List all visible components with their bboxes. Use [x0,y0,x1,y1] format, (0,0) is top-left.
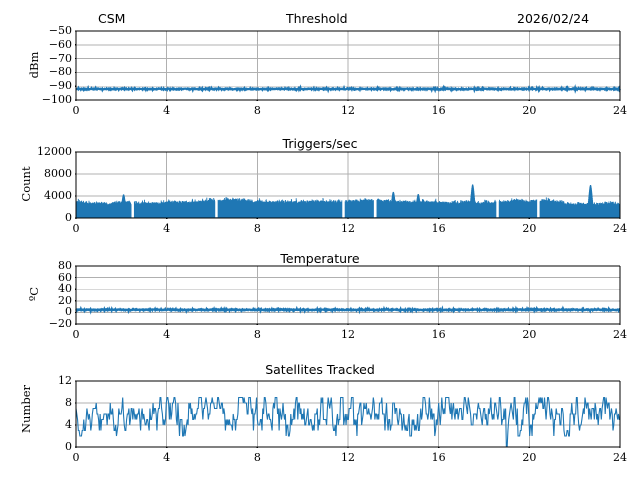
x-tick-triggers-per-sec-3: 12 [328,222,368,235]
x-tick-threshold-5: 20 [509,104,549,117]
x-tick-triggers-per-sec-5: 20 [509,222,549,235]
x-tick-satellites-tracked-5: 20 [509,451,549,464]
x-tick-satellites-tracked-1: 4 [147,451,187,464]
y-tick-threshold-4: −60 [20,38,72,51]
series-temperature [76,309,620,311]
x-tick-threshold-4: 16 [419,104,459,117]
x-tick-triggers-per-sec-4: 16 [419,222,459,235]
y-tick-threshold-5: −50 [20,24,72,37]
x-tick-threshold-0: 0 [56,104,96,117]
y-tick-triggers-per-sec-3: 12000 [20,145,72,158]
plot-area-triggers-per-sec [75,151,621,219]
plot-area-temperature [75,265,621,325]
header-station-label: CSM [98,11,125,26]
x-tick-triggers-per-sec-0: 0 [56,222,96,235]
x-tick-satellites-tracked-6: 24 [600,451,640,464]
plot-area-satellites-tracked [75,380,621,448]
panel-title-temperature: Temperature [0,251,640,266]
x-tick-satellites-tracked-4: 16 [419,451,459,464]
x-tick-satellites-tracked-3: 12 [328,451,368,464]
x-tick-temperature-5: 20 [509,328,549,341]
x-tick-triggers-per-sec-2: 8 [237,222,277,235]
figure-canvas: CSM Threshold 2026/02/24 dBm−100−90−80−7… [0,0,640,480]
x-tick-temperature-3: 12 [328,328,368,341]
plot-area-threshold [75,30,621,101]
x-tick-temperature-1: 4 [147,328,187,341]
y-tick-satellites-tracked-3: 12 [20,374,72,387]
panel-title-triggers-per-sec: Triggers/sec [0,136,640,151]
x-tick-satellites-tracked-2: 8 [237,451,277,464]
y-tick-triggers-per-sec-2: 8000 [20,167,72,180]
y-tick-threshold-2: −80 [20,65,72,78]
x-tick-threshold-2: 8 [237,104,277,117]
header-date-label: 2026/02/24 [517,11,589,26]
y-tick-satellites-tracked-2: 8 [20,396,72,409]
panel-title-satellites-tracked: Satellites Tracked [0,362,640,377]
y-tick-temperature-1: 0 [20,305,72,318]
x-tick-satellites-tracked-0: 0 [56,451,96,464]
series-threshold [76,88,620,90]
y-tick-threshold-3: −70 [20,52,72,65]
y-tick-triggers-per-sec-1: 4000 [20,189,72,202]
x-tick-temperature-4: 16 [419,328,459,341]
y-tick-satellites-tracked-1: 4 [20,418,72,431]
x-tick-threshold-1: 4 [147,104,187,117]
header-center-title: Threshold [286,11,348,26]
x-tick-temperature-6: 24 [600,328,640,341]
y-tick-temperature-3: 40 [20,282,72,295]
y-tick-temperature-5: 80 [20,259,72,272]
x-tick-threshold-6: 24 [600,104,640,117]
x-tick-temperature-2: 8 [237,328,277,341]
y-tick-temperature-2: 20 [20,294,72,307]
y-tick-threshold-1: −90 [20,79,72,92]
x-tick-threshold-3: 12 [328,104,368,117]
x-tick-triggers-per-sec-1: 4 [147,222,187,235]
y-tick-temperature-4: 60 [20,271,72,284]
x-tick-triggers-per-sec-6: 24 [600,222,640,235]
x-tick-temperature-0: 0 [56,328,96,341]
